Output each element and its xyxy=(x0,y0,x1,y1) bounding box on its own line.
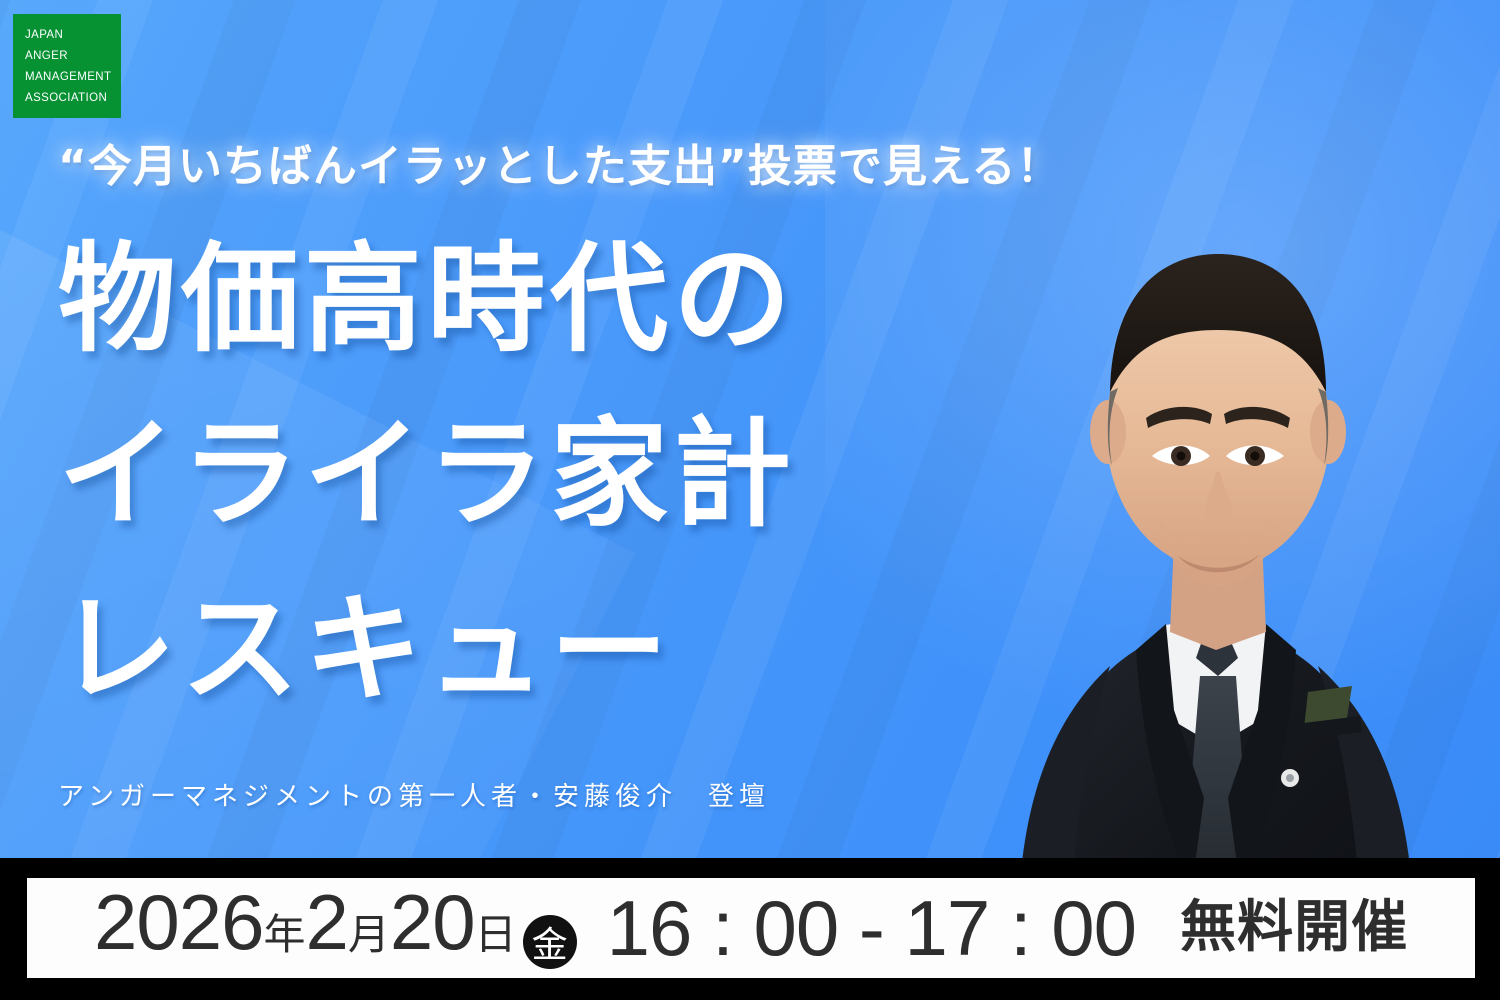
main-headline: 物価高時代の イライラ家計 レスキュー xyxy=(58,212,1018,737)
headline-line-2: イライラ家計 xyxy=(58,387,1018,562)
event-banner: JAPAN ANGER MANAGEMENT ASSOCIATION xyxy=(0,0,1500,1000)
date-month-unit: 月 xyxy=(348,896,390,974)
association-logo: JAPAN ANGER MANAGEMENT ASSOCIATION xyxy=(13,14,121,118)
day-of-week-badge: 金 xyxy=(523,915,577,969)
event-date: 2026 年 2 月 20 日 金 xyxy=(94,883,581,974)
logo-line-management: MANAGEMENT xyxy=(25,67,121,88)
date-year-unit: 年 xyxy=(263,896,305,974)
date-day: 20 xyxy=(390,883,475,961)
logo-line-anger: ANGER xyxy=(25,46,121,67)
date-day-unit: 日 xyxy=(475,896,517,974)
headline-line-1: 物価高時代の xyxy=(58,212,1018,387)
date-month: 2 xyxy=(305,883,347,961)
event-time: 16 : 00 - 17 : 00 xyxy=(607,889,1136,967)
logo-line-japan: JAPAN xyxy=(25,25,121,46)
footer-bar: 2026 年 2 月 20 日 金 16 : 00 - 17 : 00 無料開催 xyxy=(0,858,1500,1000)
lapel-pin-inner xyxy=(1286,774,1294,782)
speaker-credit: アンガーマネジメントの第一人者・安藤俊介 登壇 xyxy=(58,776,770,813)
event-price: 無料開催 xyxy=(1180,889,1408,967)
event-details-plate: 2026 年 2 月 20 日 金 16 : 00 - 17 : 00 無料開催 xyxy=(27,878,1475,978)
kicker-text: “今月いちばんイラッとした支出”投票で見える！ xyxy=(58,130,1062,194)
logo-line-association: ASSOCIATION xyxy=(25,88,121,109)
head xyxy=(1090,254,1346,586)
headline-block: “今月いちばんイラッとした支出”投票で見える！ 物価高時代の イライラ家計 レス… xyxy=(0,0,1100,858)
date-year: 2026 xyxy=(94,883,264,961)
headline-line-3: レスキュー xyxy=(58,562,1018,737)
